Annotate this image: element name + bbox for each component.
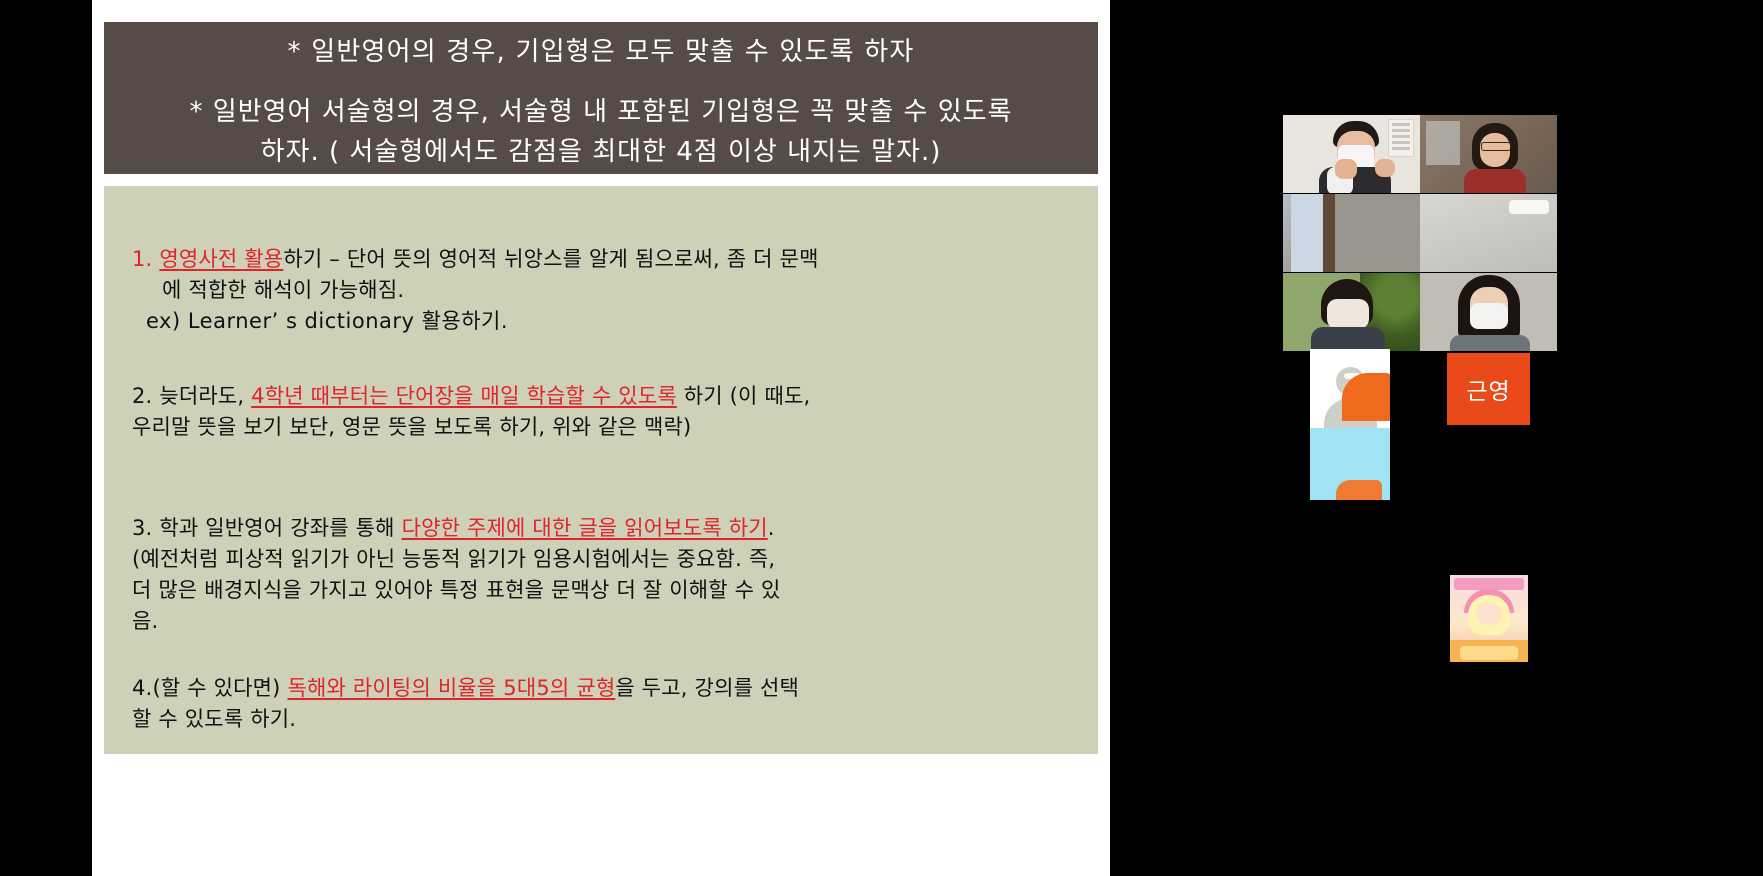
person-body — [1311, 327, 1385, 351]
spacer-2b — [132, 487, 1088, 513]
video-conference-panel: 근영 — [1110, 0, 1763, 876]
participant-tile-woman-glasses[interactable] — [1420, 115, 1557, 193]
item-4-pre: (할 수 있다면) — [152, 676, 287, 700]
item-3-emphasis: 다양한 주제에 대한 글을 읽어보도록 하기 — [402, 516, 768, 540]
slide-body-box: 1. 영영사전 활용하기 – 단어 뜻의 영어적 뉘앙스를 알게 됨으로써, 좀… — [104, 186, 1098, 754]
item-1-example: ex) Learner’ s dictionary 활용하기. — [132, 306, 1088, 337]
window-light — [1426, 121, 1460, 165]
item-3-post: . — [768, 516, 775, 540]
header-line-3: 하자. ( 서술형에서도 감점을 최대한 4점 이상 내지는 말자.) — [261, 132, 942, 172]
header-line-2: * 일반영어 서술형의 경우, 서술형 내 포함된 기입형은 꼭 맞출 수 있도… — [190, 92, 1013, 132]
item-2-emphasis: 4학년 때부터는 단어장을 매일 학습할 수 있도록 — [251, 384, 677, 408]
person-hand-left — [1335, 159, 1357, 179]
rock-formation — [1342, 373, 1390, 421]
item-3-number: 3. — [132, 516, 152, 540]
spacer-2 — [132, 443, 1088, 487]
cloud-icon — [1316, 361, 1336, 368]
participant-name-tile[interactable]: 근영 — [1447, 353, 1530, 425]
character-face — [1476, 603, 1502, 625]
item-2-line-2: 우리말 뜻을 보기 보단, 영문 뜻을 보도록 하기, 위와 같은 맥락) — [132, 412, 1088, 443]
list-item: 3. 학과 일반영어 강좌를 통해 다양한 주제에 대한 글을 읽어보도록 하기… — [132, 513, 1088, 637]
item-3-line-3: 더 많은 배경지식을 가지고 있어야 특정 표현을 문맥상 더 잘 이해할 수 … — [132, 575, 1088, 606]
item-1-line-2: 에 적합한 해석이 가능해짐. — [132, 275, 1088, 306]
participant-tile-avatar-placeholder[interactable] — [1310, 349, 1390, 500]
window — [1291, 194, 1325, 272]
glasses-icon — [1481, 142, 1511, 151]
item-2-line-1: 2. 늦더라도, 4학년 때부터는 단어장을 매일 학습할 수 있도록 하기 (… — [132, 381, 1088, 412]
slide-page: * 일반영어의 경우, 기입형은 모두 맞출 수 있도록 하자 * 일반영어 서… — [92, 0, 1110, 876]
picture-footer-inner — [1460, 646, 1518, 660]
item-4-line-2: 할 수 있도록 하기. — [132, 704, 1088, 735]
item-1-line-1: 1. 영영사전 활용하기 – 단어 뜻의 영어적 뉘앙스를 알게 됨으로써, 좀… — [132, 244, 1088, 275]
rock-formation — [1336, 480, 1382, 500]
item-3-pre: 학과 일반영어 강좌를 통해 — [159, 516, 401, 540]
participant-tile-profile-picture[interactable] — [1450, 575, 1528, 662]
item-1-rest: 하기 – 단어 뜻의 영어적 뉘앙스를 알게 됨으로써, 좀 더 문맥 — [283, 247, 818, 271]
participant-tile-ceiling-view[interactable] — [1283, 194, 1420, 272]
list-item: 4.(할 수 있다면) 독해와 라이팅의 비율을 5대5의 균형을 두고, 강의… — [132, 673, 1088, 735]
face-mask — [1327, 299, 1369, 329]
screen-root: * 일반영어의 경우, 기입형은 모두 맞출 수 있도록 하자 * 일반영어 서… — [0, 0, 1763, 876]
participant-tile-masked-man-indoor[interactable] — [1283, 115, 1420, 193]
person-body — [1450, 335, 1530, 351]
wall-calendar-icon — [1388, 119, 1414, 157]
item-4-number: 4. — [132, 676, 152, 700]
item-1-number: 1. — [132, 247, 152, 271]
participant-name-label: 근영 — [1466, 372, 1510, 406]
ceiling-light — [1509, 200, 1549, 214]
wall — [1335, 194, 1420, 272]
participant-tile-young-woman-masked[interactable] — [1420, 273, 1557, 351]
participant-tile-masked-person-outdoor[interactable] — [1283, 273, 1420, 351]
item-3-line-2: (예전처럼 피상적 읽기가 아닌 능동적 읽기가 임용시험에서는 중요함. 즉, — [132, 544, 1088, 575]
header-line-1: * 일반영어의 경우, 기입형은 모두 맞출 수 있도록 하자 — [288, 30, 915, 74]
face-mask — [1470, 303, 1508, 329]
item-1-emphasis: 영영사전 활용 — [159, 247, 283, 271]
item-2-post: 하기 (이 때도, — [677, 384, 811, 408]
list-item: 2. 늦더라도, 4학년 때부터는 단어장을 매일 학습할 수 있도록 하기 (… — [132, 381, 1088, 443]
spacer-1 — [132, 337, 1088, 381]
participant-tile-blank-wall[interactable] — [1420, 194, 1557, 272]
slide-header-box: * 일반영어의 경우, 기입형은 모두 맞출 수 있도록 하자 * 일반영어 서… — [104, 22, 1098, 174]
person-clothing — [1464, 169, 1526, 193]
item-4-emphasis: 독해와 라이팅의 비율을 5대5의 균형 — [287, 676, 615, 700]
spacer-3 — [132, 637, 1088, 673]
list-item: 1. 영영사전 활용하기 – 단어 뜻의 영어적 뉘앙스를 알게 됨으로써, 좀… — [132, 244, 1088, 337]
person-hand-right — [1375, 159, 1395, 177]
item-4-line-1: 4.(할 수 있다면) 독해와 라이팅의 비율을 5대5의 균형을 두고, 강의… — [132, 673, 1088, 704]
item-2-pre: 늦더라도, — [159, 384, 251, 408]
window-frame — [1323, 194, 1335, 272]
item-2-number: 2. — [132, 384, 152, 408]
item-3-line-1: 3. 학과 일반영어 강좌를 통해 다양한 주제에 대한 글을 읽어보도록 하기… — [132, 513, 1088, 544]
item-3-line-4: 음. — [132, 606, 1088, 637]
item-4-post: 을 두고, 강의를 선택 — [615, 676, 799, 700]
